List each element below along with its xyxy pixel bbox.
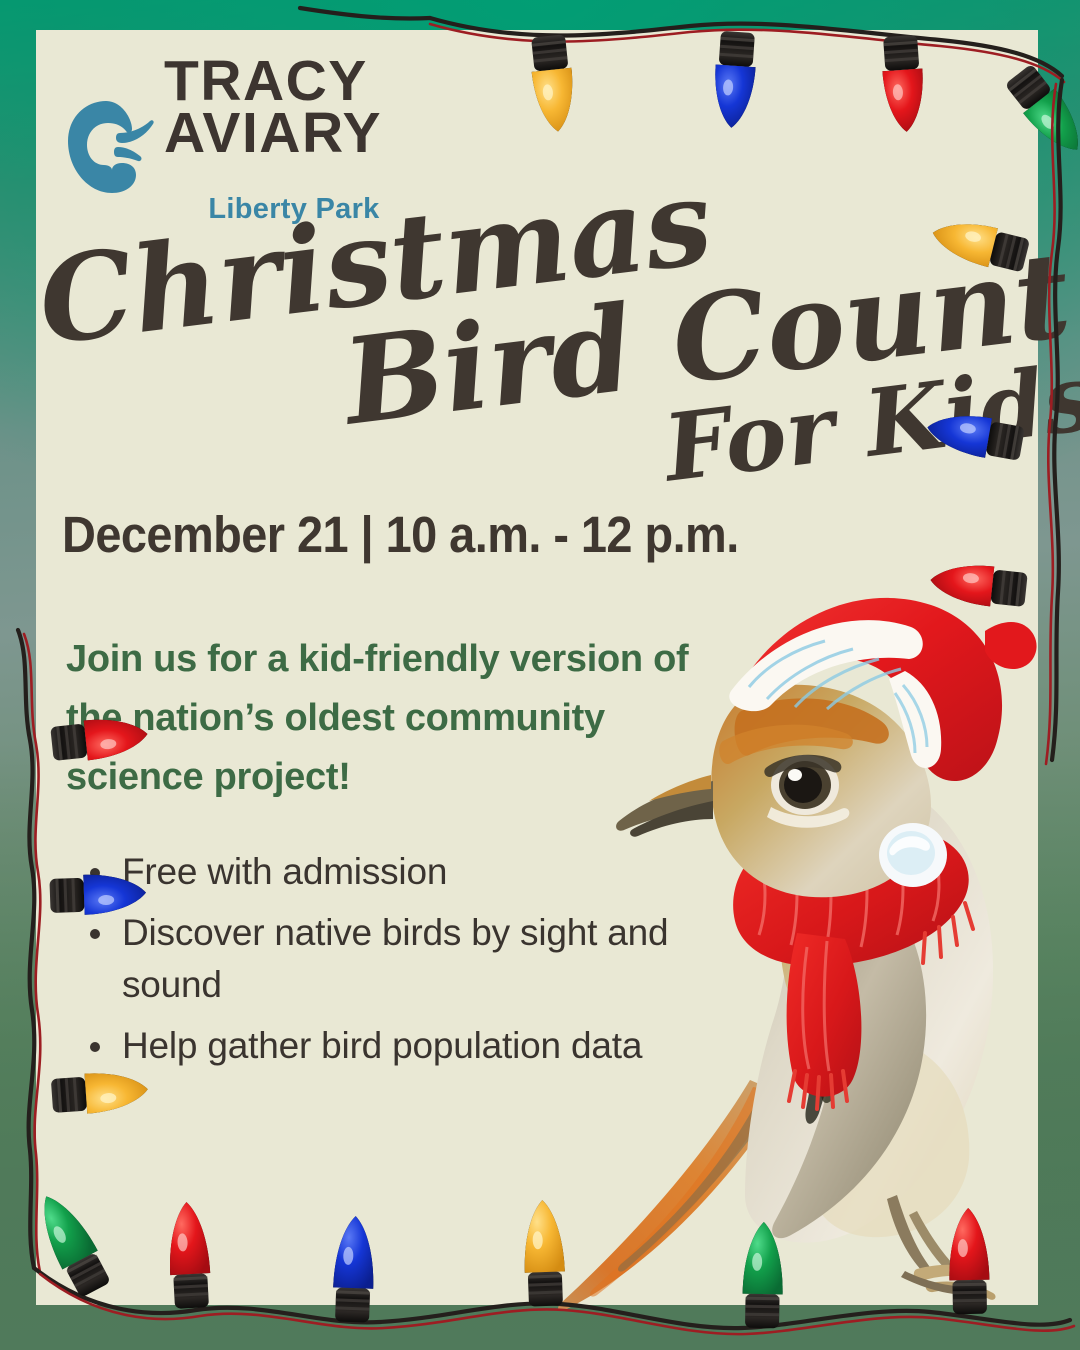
logo-line-aviary: AVIARY [164, 107, 424, 159]
list-item-label: Free with admission [122, 851, 447, 892]
logo-subtitle-liberty-park: Liberty Park [164, 193, 424, 226]
bullet-dot-icon [90, 868, 100, 878]
logo-wordmark: TRACY AVIARY [164, 55, 424, 160]
tracy-aviary-bird-mark-icon [60, 97, 156, 197]
bullet-dot-icon [90, 1042, 100, 1052]
poster-canvas: TRACY AVIARY Liberty Park Christmas Bird… [0, 0, 1080, 1350]
tracy-aviary-logo: TRACY AVIARY Liberty Park [60, 55, 420, 220]
santa-hat-bird-illustration [545, 535, 1045, 1315]
logo-line-tracy: TRACY [164, 55, 424, 107]
bullet-dot-icon [90, 929, 100, 939]
